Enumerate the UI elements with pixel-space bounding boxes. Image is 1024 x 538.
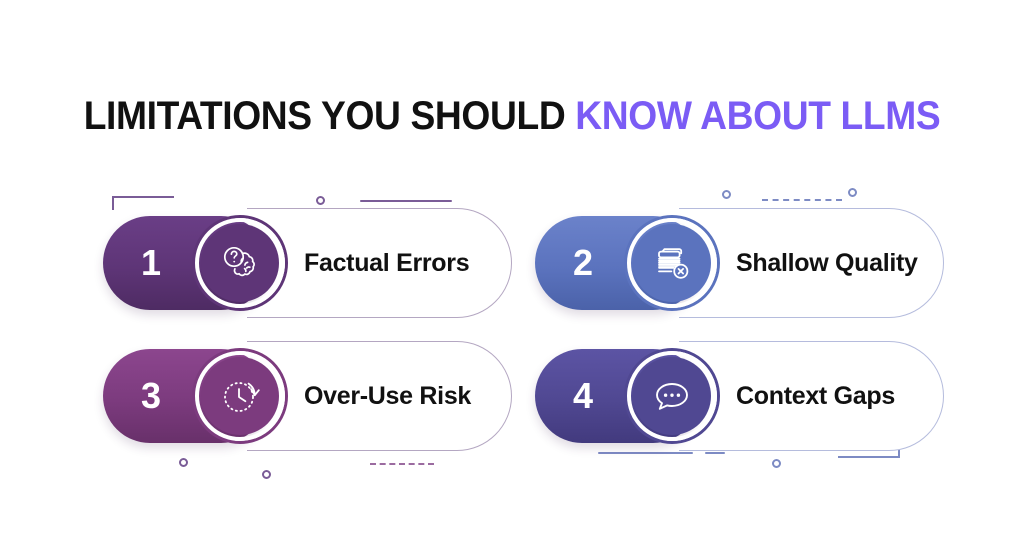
card-label: Shallow Quality (736, 208, 918, 318)
page-title-accent: KNOW ABOUT LLMS (575, 94, 940, 138)
card-icon-badge (192, 348, 288, 444)
card-label: Context Gaps (736, 341, 895, 451)
deco-circle-1 (316, 196, 325, 205)
card-number: 4 (573, 378, 593, 414)
clock-refresh-icon (215, 371, 265, 421)
deco-line-2 (598, 452, 693, 454)
deco-circle-3 (848, 188, 857, 197)
card-over-use-risk[interactable]: 3 Over-Use Risk (92, 341, 512, 451)
card-number: 3 (141, 378, 161, 414)
deco-circle-4 (179, 458, 188, 467)
card-icon-badge (192, 215, 288, 311)
card-shallow-quality[interactable]: 2 Shallow Quality (524, 208, 944, 318)
deco-circle-2 (722, 190, 731, 199)
deco-line-1 (360, 200, 452, 202)
infographic-canvas: LIMITATIONS YOU SHOULD KNOW ABOUT LLMS 1 (0, 0, 1024, 538)
badge-disc (201, 357, 279, 435)
card-context-gaps[interactable]: 4 Context Gaps (524, 341, 944, 451)
card-label: Factual Errors (304, 208, 469, 318)
page-title-dark: LIMITATIONS YOU SHOULD (84, 94, 576, 138)
badge-disc (633, 357, 711, 435)
card-factual-errors[interactable]: 1 Factual (92, 208, 512, 318)
page-title: LIMITATIONS YOU SHOULD KNOW ABOUT LLMS (36, 94, 988, 138)
deco-dash-2 (370, 463, 434, 465)
card-icon-badge (624, 215, 720, 311)
card-number: 1 (141, 245, 161, 281)
deco-line-3 (705, 452, 725, 454)
card-number: 2 (573, 245, 593, 281)
badge-disc (633, 224, 711, 302)
card-icon-badge (624, 348, 720, 444)
speech-bubble-icon (647, 371, 697, 421)
deco-dash-1 (762, 199, 842, 201)
deco-circle-5 (262, 470, 271, 479)
badge-disc (201, 224, 279, 302)
books-error-icon (646, 237, 698, 289)
card-label: Over-Use Risk (304, 341, 471, 451)
brain-question-icon (214, 237, 266, 289)
deco-circle-6 (772, 459, 781, 468)
